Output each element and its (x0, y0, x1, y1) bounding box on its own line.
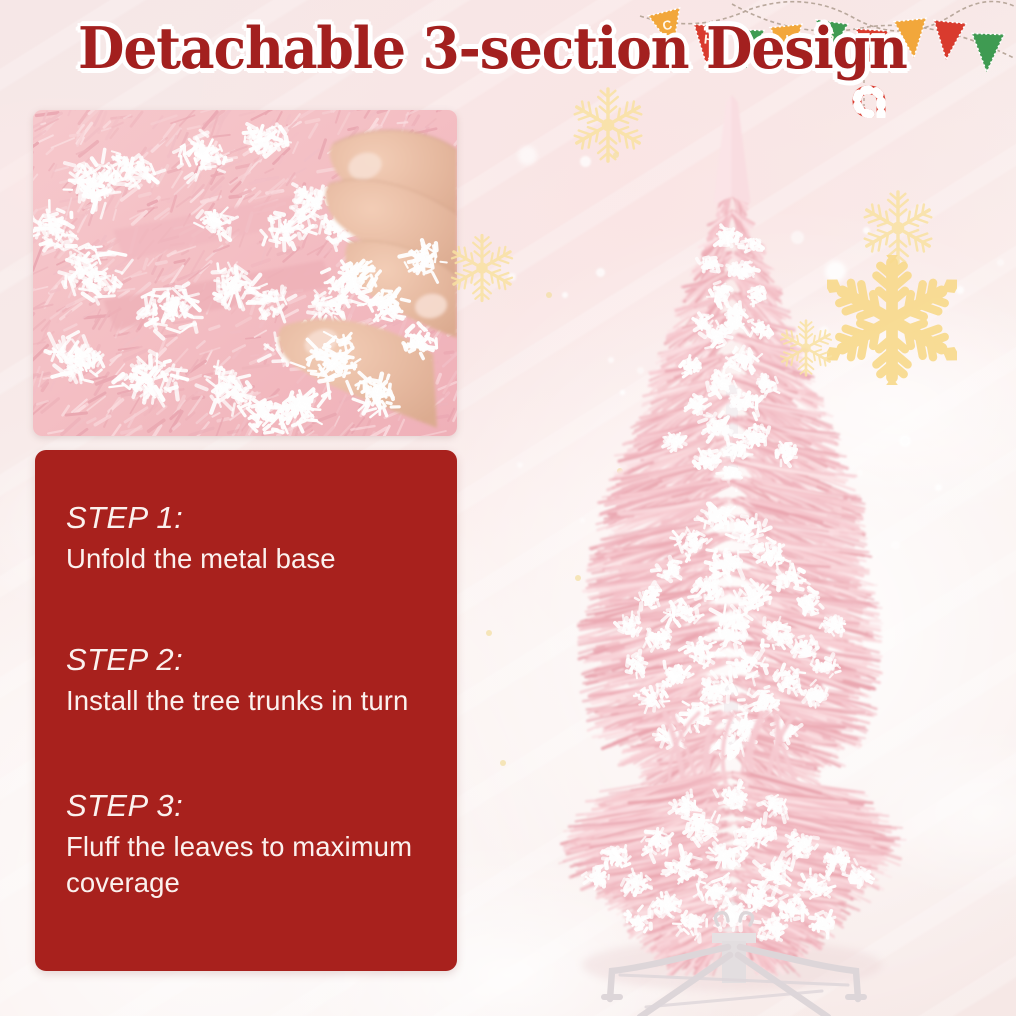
hands-fluffing-branches-photo (33, 110, 457, 436)
step-2-text: Install the tree trunks in turn (66, 683, 437, 720)
tree-middle-section (578, 480, 882, 786)
step-3-label: STEP 3: (66, 788, 437, 824)
snowflake-outline-lower-mid-icon (775, 317, 837, 379)
step-1-label: STEP 1: (66, 500, 437, 536)
bunting-flag (930, 20, 966, 61)
step-item-3: STEP 3: Fluff the leaves to maximum cove… (66, 788, 437, 902)
bunting-flag (971, 33, 1004, 72)
snowflake-outline-mid-left-icon (445, 231, 519, 305)
page-title: Detachable 3-section Design (78, 19, 907, 79)
step-1-text: Unfold the metal base (66, 541, 437, 578)
product-infographic: CHRIST Detachable 3-section Design (0, 0, 1016, 1016)
snowflake-solid-right-icon (827, 255, 957, 385)
snowflake-outline-top-left-icon (567, 84, 649, 166)
step-3-text: Fluff the leaves to maximum coverage (66, 829, 437, 902)
step-item-2: STEP 2: Install the tree trunks in turn (66, 642, 437, 719)
step-2-label: STEP 2: (66, 642, 437, 678)
steps-panel: STEP 1: Unfold the metal base STEP 2: In… (35, 450, 457, 971)
step-item-1: STEP 1: Unfold the metal base (66, 500, 437, 577)
